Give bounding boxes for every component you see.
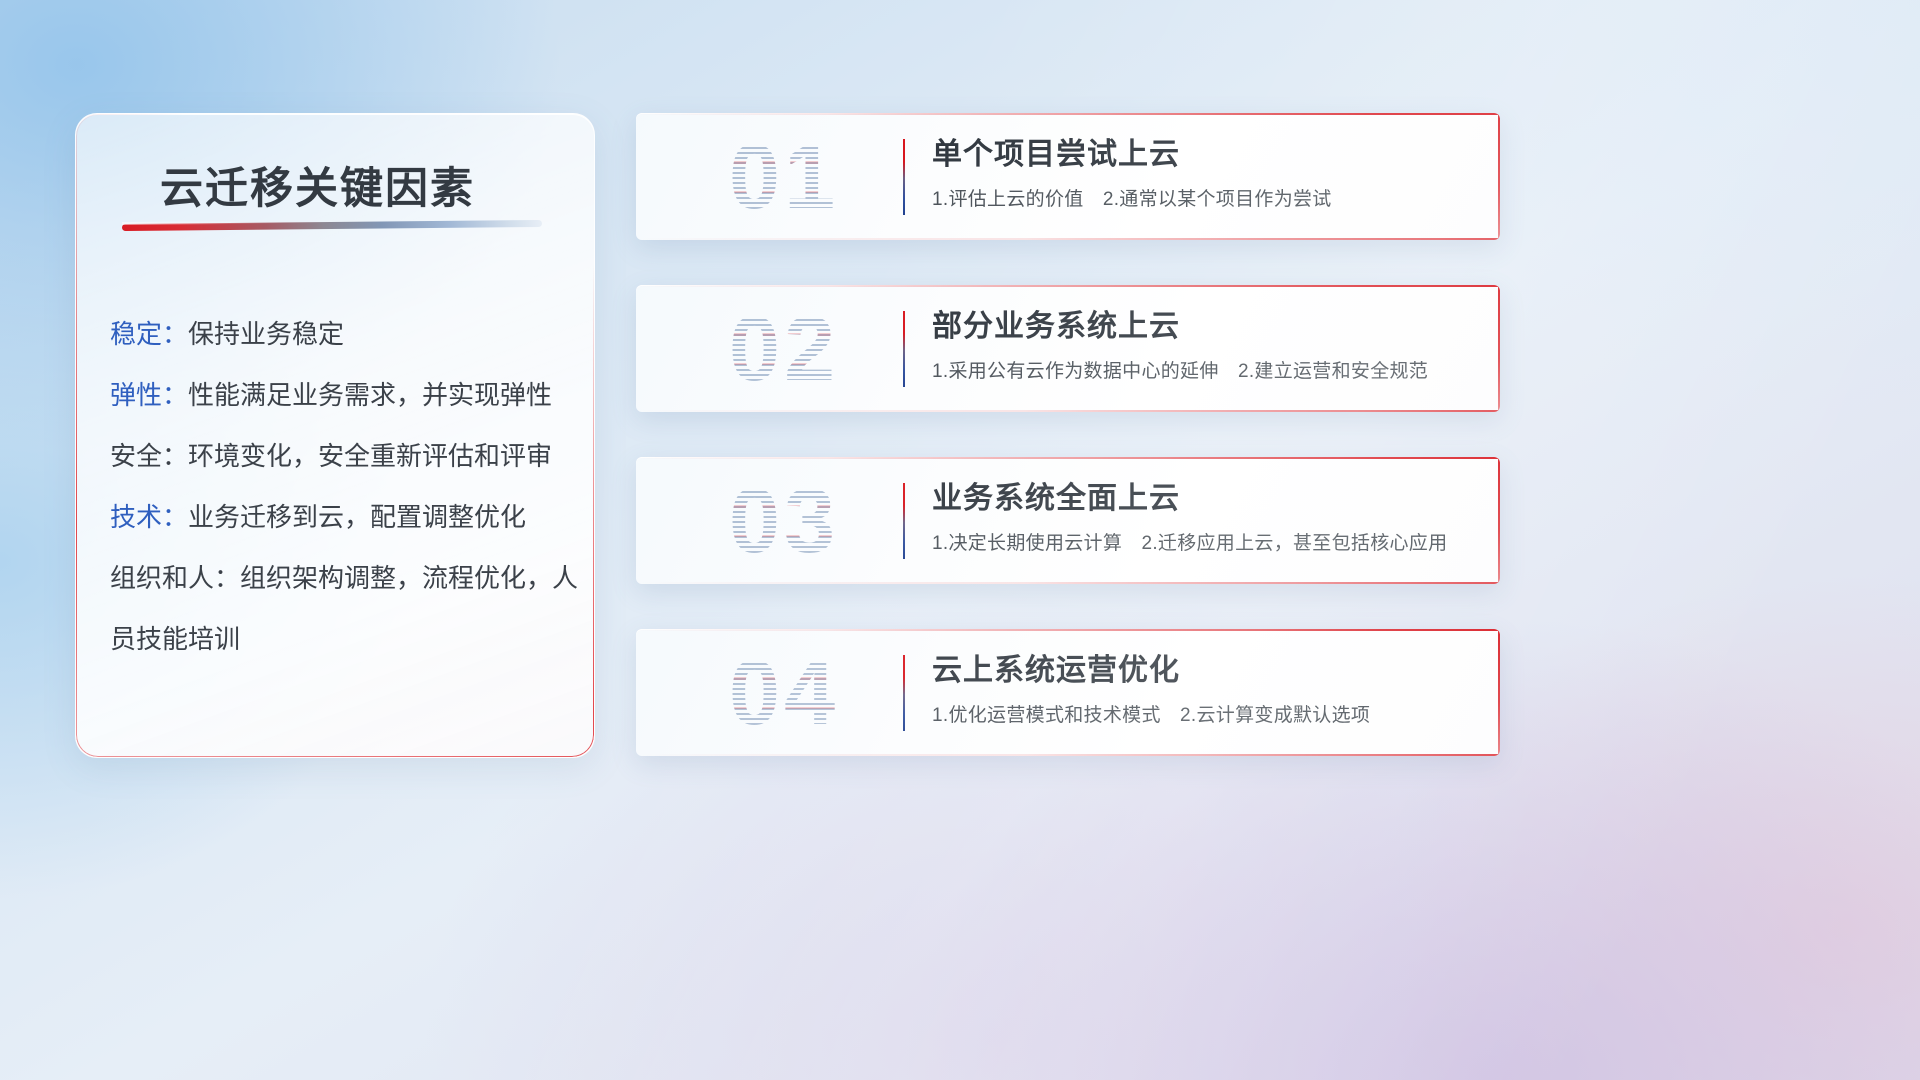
step-number-watermark-accent: 01 <box>694 127 874 227</box>
list-item: 稳定：保持业务稳定 <box>110 304 580 365</box>
factor-text: 性能满足业务需求，并实现弹性 <box>188 380 552 410</box>
factor-label: 技术： <box>110 502 188 532</box>
step-divider <box>903 655 905 731</box>
step-description: 1.采用公有云作为数据中心的延伸 2.建立运营和安全规范 <box>932 356 1476 383</box>
factor-label: 稳定： <box>110 319 188 349</box>
list-item: 组织和人：组织架构调整，流程优化，人员技能培训 <box>110 548 580 670</box>
step-number-watermark-accent: 02 <box>694 299 874 399</box>
factor-label: 弹性： <box>110 380 188 410</box>
factor-text: 保持业务稳定 <box>188 319 344 349</box>
slide-canvas: 云迁移关键因素 稳定：保持业务稳定 弹性：性能满足业务需求，并实现弹性 安全：环… <box>0 0 1920 1080</box>
list-item: 弹性：性能满足业务需求，并实现弹性 <box>110 365 580 426</box>
list-item: 技术：业务迁移到云，配置调整优化 <box>110 487 580 548</box>
step-divider <box>903 483 905 559</box>
title-gradient-rule <box>122 220 542 231</box>
key-factors-panel: 云迁移关键因素 稳定：保持业务稳定 弹性：性能满足业务需求，并实现弹性 安全：环… <box>75 113 595 758</box>
step-title: 业务系统全面上云 <box>932 477 1476 521</box>
page-title: 云迁移关键因素 <box>160 154 475 216</box>
list-item[interactable]: 03 03 业务系统全面上云 1.决定长期使用云计算 2.迁移应用上云，甚至包括… <box>636 457 1500 584</box>
step-number-watermark-accent: 04 <box>694 643 874 743</box>
list-item[interactable]: 02 02 部分业务系统上云 1.采用公有云作为数据中心的延伸 2.建立运营和安… <box>636 285 1500 412</box>
migration-steps-list: 01 01 单个项目尝试上云 1.评估上云的价值 2.通常以某个项目作为尝试 0… <box>636 113 1500 756</box>
step-divider <box>903 139 905 215</box>
step-description: 1.优化运营模式和技术模式 2.云计算变成默认选项 <box>932 700 1476 727</box>
step-description: 1.评估上云的价值 2.通常以某个项目作为尝试 <box>932 184 1476 211</box>
step-number-watermark-accent: 03 <box>694 471 874 571</box>
step-title: 单个项目尝试上云 <box>932 133 1476 177</box>
step-divider <box>903 311 905 387</box>
factor-label: 组织和人： <box>110 563 240 593</box>
step-title: 部分业务系统上云 <box>932 305 1476 349</box>
list-item: 安全：环境变化，安全重新评估和评审 <box>110 426 580 487</box>
factor-text: 业务迁移到云，配置调整优化 <box>188 502 526 532</box>
factor-label: 安全： <box>110 441 188 471</box>
list-item[interactable]: 01 01 单个项目尝试上云 1.评估上云的价值 2.通常以某个项目作为尝试 <box>636 113 1500 240</box>
factor-list: 稳定：保持业务稳定 弹性：性能满足业务需求，并实现弹性 安全：环境变化，安全重新… <box>110 304 580 670</box>
list-item[interactable]: 04 04 云上系统运营优化 1.优化运营模式和技术模式 2.云计算变成默认选项 <box>636 629 1500 756</box>
factor-text: 环境变化，安全重新评估和评审 <box>188 441 552 471</box>
step-description: 1.决定长期使用云计算 2.迁移应用上云，甚至包括核心应用 <box>932 528 1476 555</box>
step-title: 云上系统运营优化 <box>932 649 1476 693</box>
